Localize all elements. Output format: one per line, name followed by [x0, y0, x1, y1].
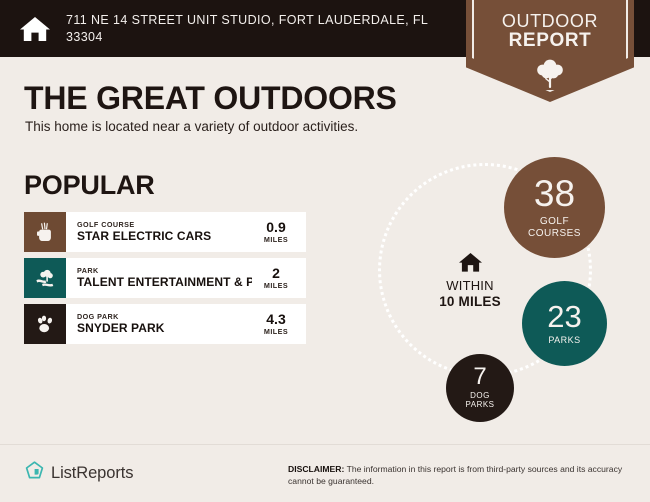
property-address: 711 NE 14 STREET UNIT STUDIO, FORT LAUDE… — [66, 12, 450, 45]
home-icon — [18, 12, 52, 46]
stat-label: PARKS — [548, 335, 580, 345]
stat-count: 38 — [534, 176, 575, 211]
list-item-category: PARK — [77, 266, 252, 275]
stat-count: 23 — [547, 302, 581, 331]
list-item-distance: 4.3 MILES — [252, 304, 306, 344]
disclaimer-label: DISCLAIMER: — [288, 464, 344, 474]
distance-value: 2 — [272, 266, 280, 281]
list-item-distance: 0.9 MILES — [252, 212, 306, 252]
tree-icon — [24, 258, 66, 298]
stat-circle-golf-courses: 38 GOLF COURSES — [504, 157, 605, 258]
distance-value: 4.3 — [266, 312, 285, 327]
list-item-name: STAR ELECTRIC CARS — [77, 229, 252, 244]
disclaimer: DISCLAIMER: The information in this repo… — [288, 463, 636, 487]
within-radius-callout: WITHIN 10 MILES — [415, 250, 525, 309]
listreports-logo-text: ListReports — [51, 464, 133, 483]
stat-label: GOLF COURSES — [528, 216, 581, 238]
page-title: THE GREAT OUTDOORS — [24, 80, 397, 117]
list-item-text: PARK TALENT ENTERTAINMENT & PARTY — [66, 258, 252, 298]
stat-label-line-1: DOG — [470, 391, 490, 400]
stat-count: 7 — [473, 366, 486, 389]
within-line-2: 10 MILES — [415, 294, 525, 310]
distance-unit: MILES — [264, 327, 288, 336]
golf-bag-icon — [24, 212, 66, 252]
popular-list: GOLF COURSE STAR ELECTRIC CARS 0.9 MILES — [24, 212, 306, 350]
tree-icon — [533, 56, 567, 90]
distance-unit: MILES — [264, 235, 288, 244]
list-item-category: GOLF COURSE — [77, 220, 252, 229]
distance-value: 0.9 — [266, 220, 285, 235]
stat-label-line-1: GOLF — [540, 216, 569, 227]
badge-line-2: REPORT — [466, 31, 634, 52]
page-subtitle: This home is located near a variety of o… — [25, 119, 358, 134]
stat-label-line-2: PARKS — [465, 400, 494, 409]
list-item[interactable]: DOG PARK SNYDER PARK 4.3 MILES — [24, 304, 306, 344]
popular-heading: POPULAR — [24, 170, 155, 201]
listreports-logo[interactable]: ListReports — [24, 460, 133, 486]
list-item-text: DOG PARK SNYDER PARK — [66, 304, 252, 344]
list-item[interactable]: GOLF COURSE STAR ELECTRIC CARS 0.9 MILES — [24, 212, 306, 252]
list-item[interactable]: PARK TALENT ENTERTAINMENT & PARTY 2 MILE… — [24, 258, 306, 298]
list-item-text: GOLF COURSE STAR ELECTRIC CARS — [66, 212, 252, 252]
footer-divider — [0, 444, 650, 445]
stat-label-line-2: COURSES — [528, 228, 581, 239]
distance-unit: MILES — [264, 281, 288, 290]
list-item-name: TALENT ENTERTAINMENT & PARTY — [77, 275, 252, 290]
within-line-1: WITHIN — [415, 279, 525, 294]
badge-line-1: OUTDOOR — [466, 12, 634, 31]
list-item-category: DOG PARK — [77, 312, 252, 321]
badge-label: OUTDOOR REPORT — [466, 12, 634, 52]
home-icon — [458, 250, 483, 275]
listreports-house-icon — [24, 460, 45, 486]
stat-label: DOG PARKS — [465, 392, 494, 410]
list-item-name: SNYDER PARK — [77, 321, 252, 336]
stat-circle-dog-parks: 7 DOG PARKS — [446, 354, 514, 422]
paw-print-icon — [24, 304, 66, 344]
stat-circle-parks: 23 PARKS — [522, 281, 607, 366]
list-item-distance: 2 MILES — [252, 258, 306, 298]
